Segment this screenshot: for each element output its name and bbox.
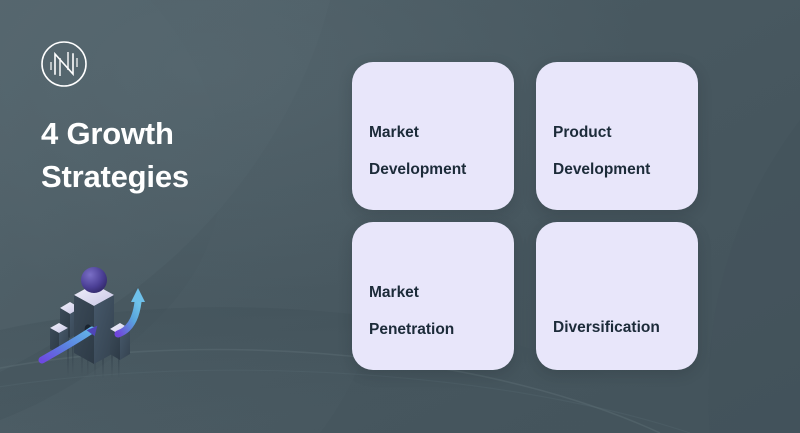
page-title-line-1: 4 Growth xyxy=(41,116,174,151)
card-market-penetration[interactable]: Market Penetration xyxy=(352,222,514,370)
card-line-1: Product xyxy=(553,114,688,151)
strategy-card-grid: Market Development Product Development M… xyxy=(352,62,698,370)
card-label-diversification: Diversification xyxy=(553,309,688,346)
page-title-line-2: Strategies xyxy=(41,155,331,198)
card-line-1: Market xyxy=(369,114,504,151)
card-label-market-penetration: Market Penetration xyxy=(369,274,504,348)
card-line-2: Penetration xyxy=(369,311,504,348)
card-line-1: Diversification xyxy=(553,309,688,346)
card-market-development[interactable]: Market Development xyxy=(352,62,514,210)
isometric-growth-chart-illustration xyxy=(36,256,166,382)
card-line-2: Development xyxy=(369,151,504,188)
purple-sphere xyxy=(81,267,107,293)
slide-canvas: 4 Growth Strategies xyxy=(0,0,800,433)
card-line-2: Development xyxy=(553,151,688,188)
monogram-n-logo xyxy=(40,40,88,88)
card-label-market-development: Market Development xyxy=(369,114,504,188)
iso-pillar-center xyxy=(74,284,114,364)
page-title: 4 Growth Strategies xyxy=(41,112,331,198)
card-product-development[interactable]: Product Development xyxy=(536,62,698,210)
card-diversification[interactable]: Diversification xyxy=(536,222,698,370)
card-line-1: Market xyxy=(369,274,504,311)
card-label-product-development: Product Development xyxy=(553,114,688,188)
